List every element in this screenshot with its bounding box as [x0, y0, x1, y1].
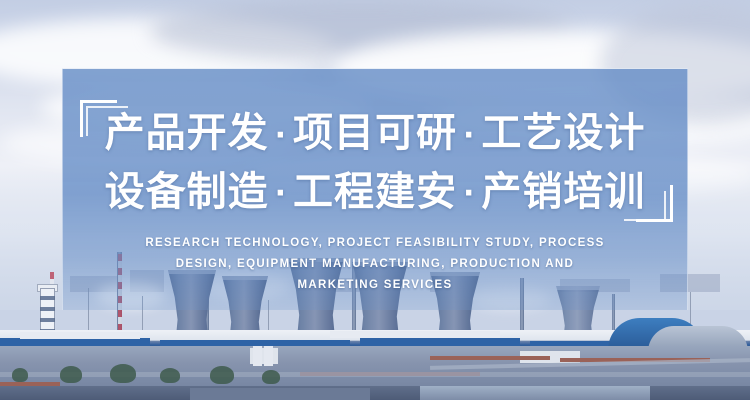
red-rooftops — [430, 356, 550, 360]
tree — [262, 370, 280, 384]
headline-segment: 设备制造 — [105, 169, 269, 215]
separator-dot: · — [269, 118, 293, 153]
factory-roof-light — [330, 331, 500, 338]
subtitle-line: RESEARCH TECHNOLOGY, PROJECT FEASIBILITY… — [125, 233, 625, 254]
headline: 产品开发·项目可研·工艺设计 设备制造·工程建安·产销培训 — [62, 105, 688, 222]
tree — [12, 368, 28, 382]
separator-dot: · — [457, 118, 481, 153]
headline-line-2: 设备制造·工程建安·产销培训 — [62, 164, 688, 223]
building-block — [420, 386, 650, 400]
factory-roof-light — [20, 332, 140, 339]
headline-segment: 产品开发 — [105, 110, 269, 156]
promotional-banner: 产品开发·项目可研·工艺设计 设备制造·工程建安·产销培训 RESEARCH T… — [0, 0, 750, 400]
headline-segment: 项目可研 — [293, 110, 457, 156]
tree — [210, 366, 234, 384]
tree — [160, 368, 180, 383]
headline-segment: 产销培训 — [481, 169, 645, 215]
silo — [253, 346, 262, 366]
tree — [60, 366, 82, 383]
separator-dot: · — [269, 176, 293, 211]
separator-dot: · — [457, 176, 481, 211]
headline-line-1: 产品开发·项目可研·工艺设计 — [62, 105, 688, 164]
headline-segment: 工程建安 — [293, 169, 457, 215]
subtitle: RESEARCH TECHNOLOGY, PROJECT FEASIBILITY… — [125, 233, 625, 296]
building-block — [190, 388, 370, 400]
tree — [110, 364, 136, 383]
subtitle-line: MARKETING SERVICES — [125, 275, 625, 296]
subtitle-line: DESIGN, EQUIPMENT MANUFACTURING, PRODUCT… — [125, 254, 625, 275]
silo — [264, 346, 273, 366]
headline-segment: 工艺设计 — [481, 110, 645, 156]
